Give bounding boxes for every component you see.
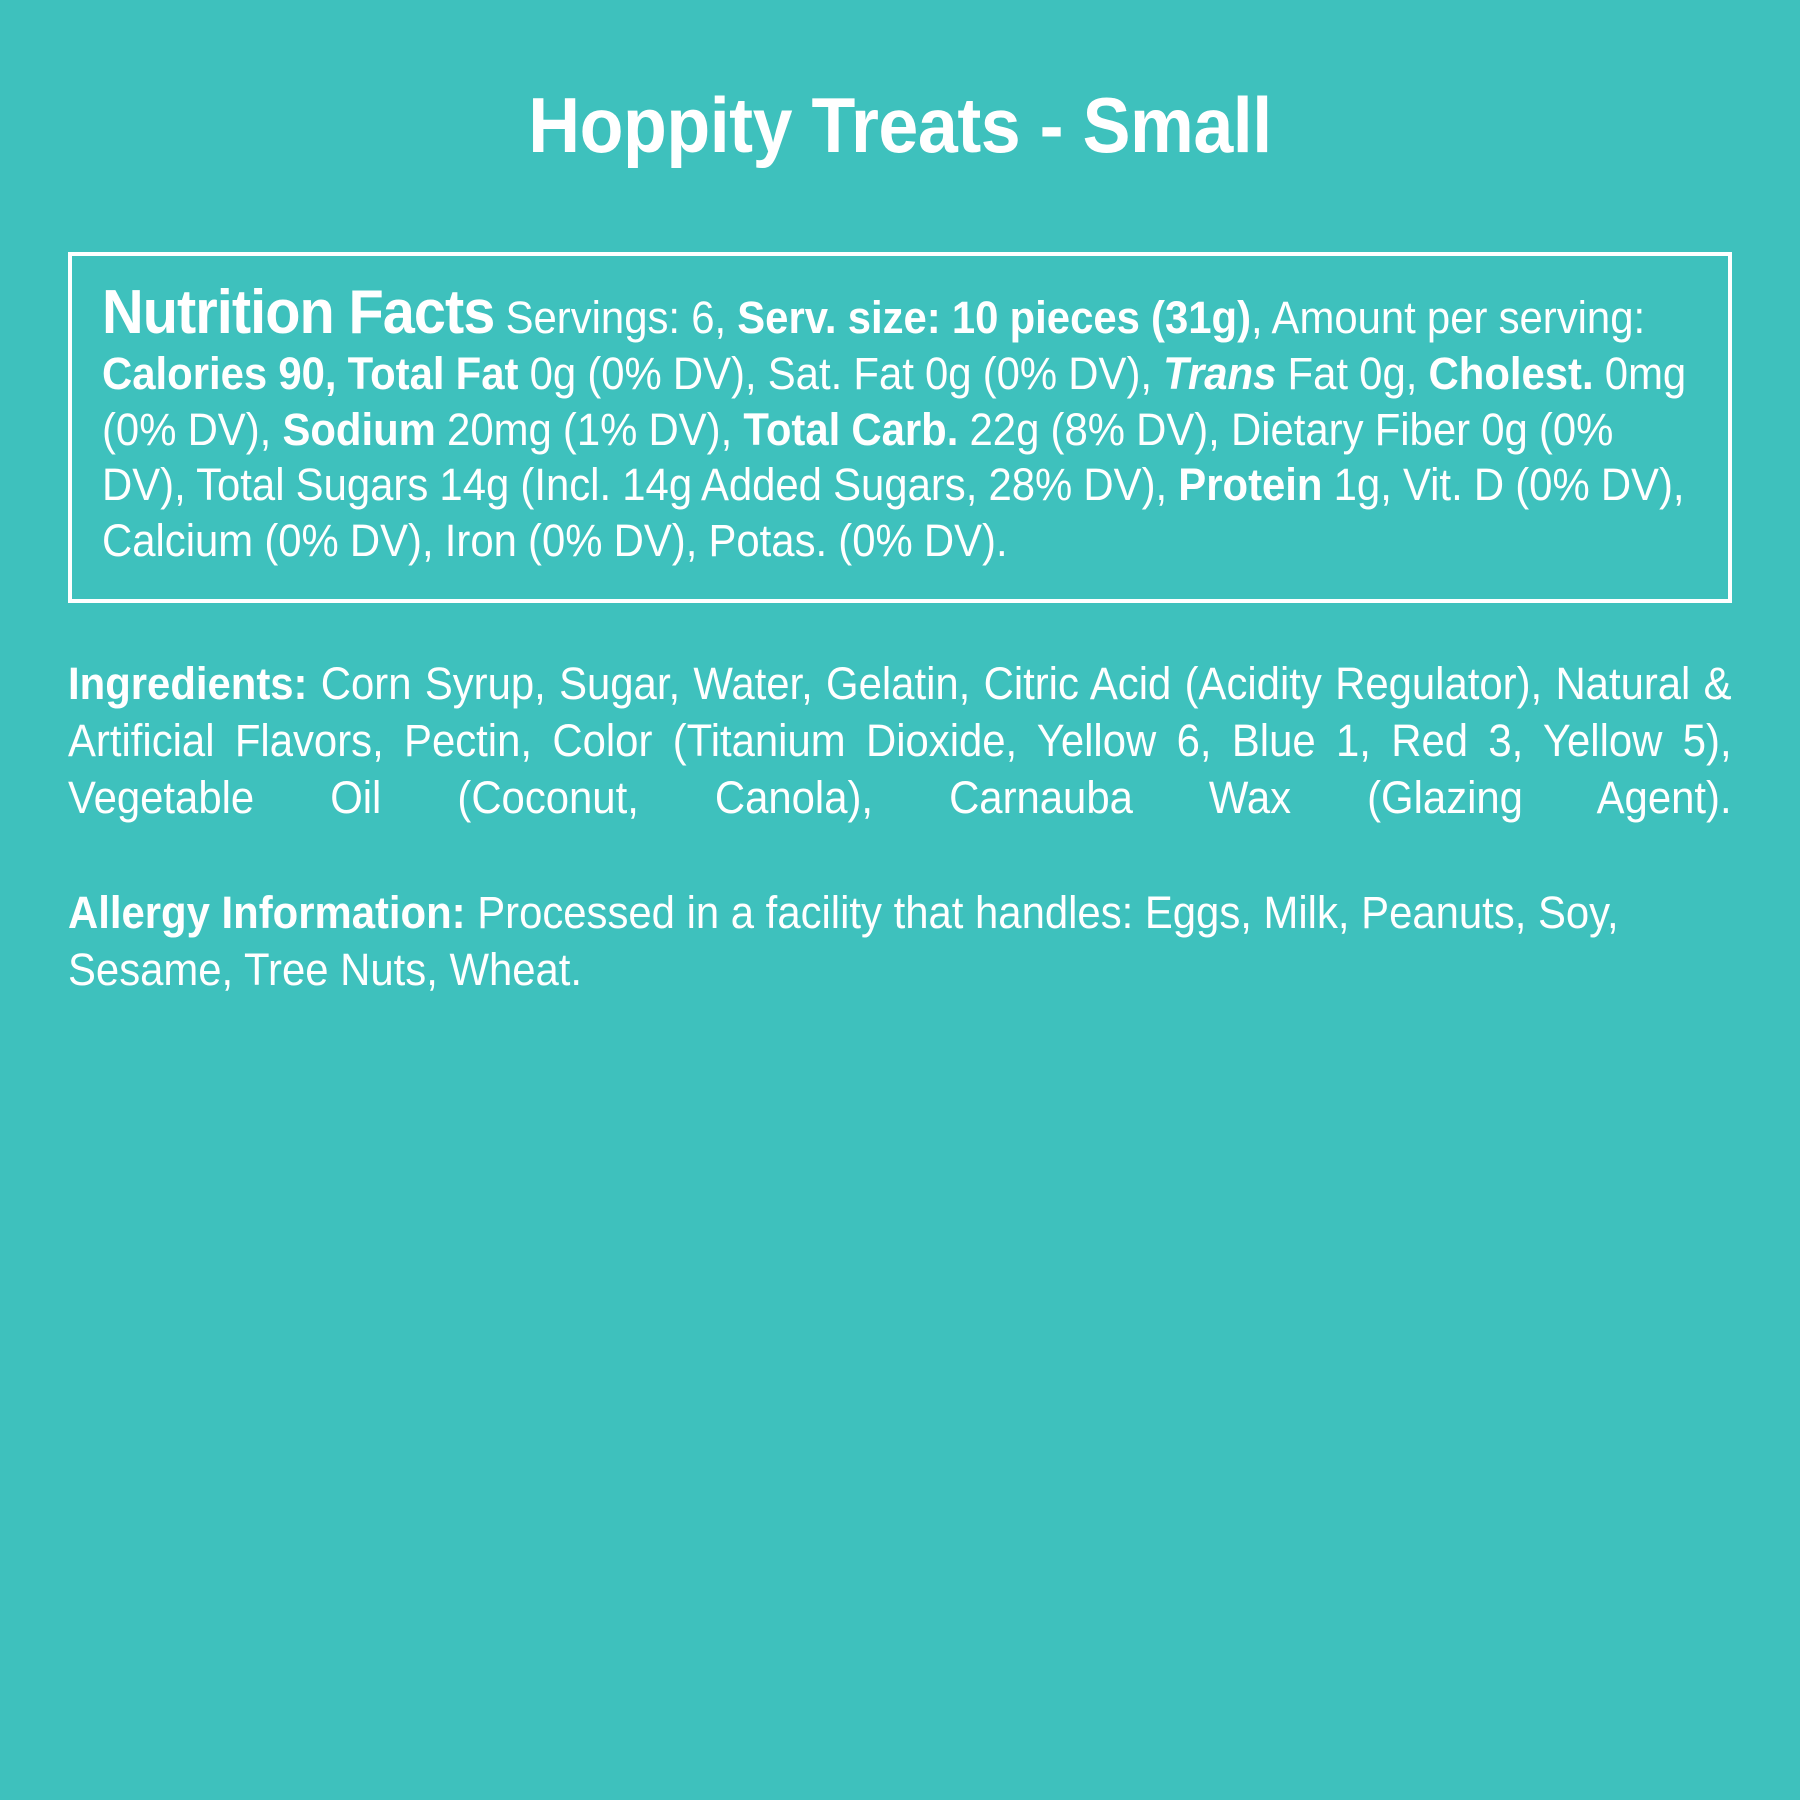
nf-sodium-value: 20mg (1% DV), xyxy=(436,404,743,455)
page-title: Hoppity Treats - Small xyxy=(135,0,1666,164)
allergy-paragraph: Allergy Information: Processed in a faci… xyxy=(68,884,1732,998)
nf-serving-size: Serv. size: 10 pieces (31g) xyxy=(737,292,1251,343)
nutrition-facts-heading: Nutrition Facts xyxy=(102,278,494,347)
ingredients-body: Corn Syrup, Sugar, Water, Gelatin, Citri… xyxy=(68,658,1732,823)
nutrition-label-root: Hoppity Treats - Small Nutrition Facts S… xyxy=(0,0,1800,1800)
nf-trans-label: Trans xyxy=(1163,348,1276,399)
nutrition-facts-panel: Nutrition Facts Servings: 6, Serv. size:… xyxy=(68,252,1732,603)
ingredients-paragraph: Ingredients: Corn Syrup, Sugar, Water, G… xyxy=(68,655,1732,884)
allergy-label: Allergy Information: xyxy=(68,887,466,938)
nf-total-carb-label: Total Carb. xyxy=(743,404,958,455)
nf-sodium-label: Sodium xyxy=(282,404,435,455)
ingredients-section: Ingredients: Corn Syrup, Sugar, Water, G… xyxy=(68,655,1732,998)
nf-amount-per-serving: , Amount per serving: xyxy=(1251,292,1645,343)
nf-fat-values: 0g (0% DV), Sat. Fat 0g (0% DV), xyxy=(518,348,1163,399)
nf-cholesterol-label: Cholest. xyxy=(1429,348,1594,399)
nf-servings: Servings: 6, xyxy=(494,292,737,343)
nf-protein-label: Protein xyxy=(1178,459,1322,510)
nutrition-facts-text: Nutrition Facts Servings: 6, Serv. size:… xyxy=(102,282,1698,569)
nf-trans-value: Fat 0g, xyxy=(1276,348,1428,399)
nf-calories-total-fat: Calories 90, Total Fat xyxy=(102,348,518,399)
ingredients-label: Ingredients: xyxy=(68,658,308,709)
